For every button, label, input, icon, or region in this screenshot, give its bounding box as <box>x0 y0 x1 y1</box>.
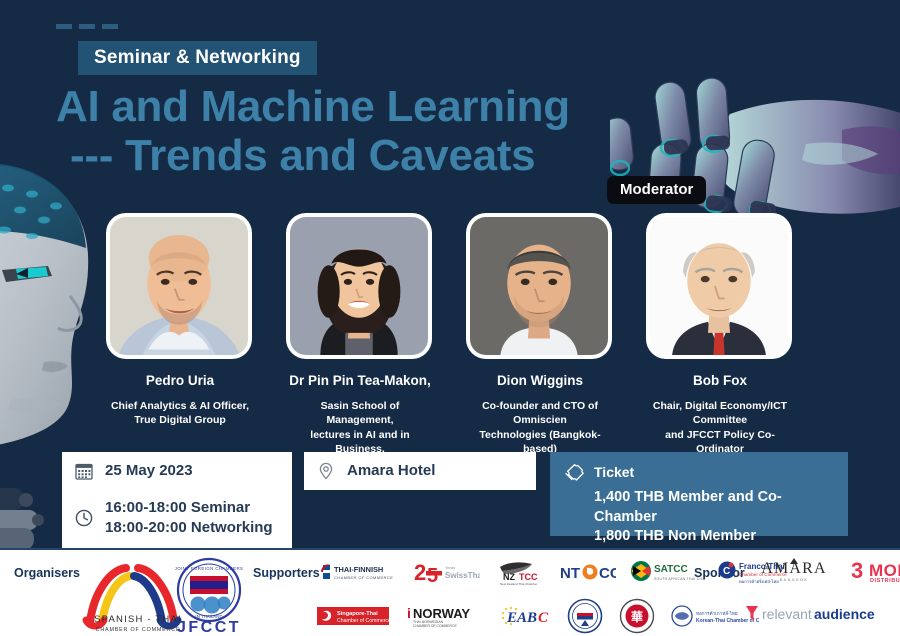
logo-inorway-chamber: i NORWAY THAI-NORWEGIAN CHAMBER OF COMME… <box>407 604 481 628</box>
speaker-photo-frame <box>286 213 432 359</box>
svg-text:CHAMBER OF COMMERCE: CHAMBER OF COMMERCE <box>334 575 393 580</box>
supporters-row-2: Singapore-Thai Chamber of Commerce i NOR… <box>315 598 759 634</box>
event-time-text: 16:00-18:00 Seminar 18:00-20:00 Networki… <box>105 498 273 538</box>
svg-text:NT: NT <box>560 565 580 582</box>
title-line-2: --- Trends and Caveats <box>56 131 696 180</box>
svg-text:NORWAY: NORWAY <box>413 606 470 621</box>
ticket-label: Ticket <box>594 464 634 480</box>
svg-text:3: 3 <box>851 558 863 583</box>
svg-text:EAB: EAB <box>506 610 537 626</box>
supporters-row-1: THAI-FINNISH CHAMBER OF COMMERCE 2 5 Yea… <box>318 558 792 586</box>
svg-text:relevant: relevant <box>762 606 812 622</box>
map-pin-icon <box>316 461 336 481</box>
event-venue-field: Amara Hotel <box>304 452 536 490</box>
event-poster: Seminar & Networking AI and Machine Lear… <box>0 0 900 636</box>
title-line-1: AI and Machine Learning <box>56 82 570 131</box>
organisers-label: Organisers <box>14 566 80 580</box>
svg-text:CC: CC <box>599 565 616 582</box>
ticket-info-box: Ticket 1,400 THB Member and Co-Chamber 1… <box>550 452 848 536</box>
logo-monos-distribution: 3 MONOS DISTRIBUTION <box>849 556 900 584</box>
svg-text:Years: Years <box>445 565 455 570</box>
moderator-badge: Moderator <box>607 176 706 204</box>
svg-text:SOUTH AFRICAN THAI CHAMBER: SOUTH AFRICAN THAI CHAMBER <box>654 577 704 581</box>
logo-ntcc: NT CC <box>560 560 616 584</box>
logo-nztcc: NZ TCC New Zealand Thai Chamber <box>494 558 546 586</box>
svg-text:THAI-FINNISH: THAI-FINNISH <box>334 565 383 574</box>
ticket-header: Ticket <box>564 462 834 482</box>
speaker-photo-frame <box>466 213 612 359</box>
speaker-photo <box>290 217 428 355</box>
svg-text:SATCC: SATCC <box>654 564 688 575</box>
svg-text:C: C <box>723 566 730 577</box>
event-date-field: 25 May 2023 <box>62 452 292 491</box>
clock-icon <box>74 508 94 528</box>
speaker-card: Bob Fox Chair, Digital Economy/ICT Commi… <box>646 213 794 456</box>
ticket-icon <box>564 462 584 482</box>
speaker-card: Pedro Uria Chief Analytics & AI Officer,… <box>106 213 254 456</box>
svg-text:TCC: TCC <box>519 572 538 582</box>
speaker-photo-frame <box>106 213 252 359</box>
logo-singapore-thai-chamber: Singapore-Thai Chamber of Commerce <box>315 604 391 628</box>
event-venue-text: Amara Hotel <box>347 461 435 481</box>
event-date-text: 25 May 2023 <box>105 461 193 481</box>
logo-thai-finnish-chamber: THAI-FINNISH CHAMBER OF COMMERCE <box>318 559 400 585</box>
calendar-icon <box>74 461 94 481</box>
speaker-role: Co-founder and CTO of Omniscien Technolo… <box>466 399 614 456</box>
svg-text:Chamber of Commerce: Chamber of Commerce <box>337 618 391 624</box>
speaker-card: Dr Pin Pin Tea-Makon, Sasin School of Ma… <box>286 213 434 456</box>
supporters-label: Supporters <box>253 566 320 580</box>
svg-text:หอการค้าเกาหลี-ไทย: หอการค้าเกาหลี-ไทย <box>696 610 738 616</box>
svg-text:SwissThai: SwissThai <box>445 571 480 580</box>
svg-text:JOINT FOREIGN CHAMBERS: JOINT FOREIGN CHAMBERS <box>175 566 244 571</box>
speaker-photo <box>650 217 788 355</box>
speaker-name: Pedro Uria <box>106 373 254 389</box>
svg-text:C: C <box>538 610 549 626</box>
page-title: AI and Machine Learning --- Trends and C… <box>56 82 696 181</box>
svg-text:New Zealand Thai Chamber: New Zealand Thai Chamber <box>500 582 537 586</box>
svg-text:華: 華 <box>631 609 643 624</box>
event-time-field: 16:00-18:00 Seminar 18:00-20:00 Networki… <box>62 490 292 548</box>
speaker-photo-frame <box>646 213 792 359</box>
logo-satcc: SATCC SOUTH AFRICAN THAI CHAMBER <box>630 559 704 585</box>
svg-text:NZ: NZ <box>503 572 515 582</box>
decorative-dashes <box>56 24 118 29</box>
speaker-photo <box>110 217 248 355</box>
logo-chamber-seal <box>567 598 603 634</box>
speaker-card: Dion Wiggins Co-founder and CTO of Omnis… <box>466 213 614 456</box>
svg-text:DISTRIBUTION: DISTRIBUTION <box>870 578 900 584</box>
svg-text:audience: audience <box>814 606 875 622</box>
svg-text:i: i <box>407 605 411 621</box>
sponsors-row-2: relevant audience <box>742 602 878 624</box>
speakers-row: Pedro Uria Chief Analytics & AI Officer,… <box>0 213 900 456</box>
logo-jfcct: JOINT FOREIGN CHAMBERS IN THAILAND JFCCT <box>166 554 252 634</box>
speaker-role: Chair, Digital Economy/ICT Committee and… <box>646 399 794 456</box>
speaker-role: Sasin School of Management, lectures in … <box>286 399 434 456</box>
svg-text:JFCCT: JFCCT <box>177 619 241 634</box>
speaker-role: Chief Analytics & AI Officer, True Digit… <box>106 399 254 427</box>
speaker-name: Dion Wiggins <box>466 373 614 389</box>
speaker-name: Bob Fox <box>646 373 794 389</box>
svg-text:2: 2 <box>414 560 426 585</box>
logo-relevant-audience: relevant audience <box>742 602 878 624</box>
speaker-photo <box>470 217 608 355</box>
speaker-name: Dr Pin Pin Tea-Makon, <box>286 373 434 389</box>
logo-swissthai-25: 2 5 Years SwissThai <box>414 558 480 586</box>
sponsors-row-1: AMARA BANGKOK 3 MONOS DISTRIBUTION <box>755 556 900 584</box>
svg-text:CHAMBER OF COMMERCE: CHAMBER OF COMMERCE <box>413 624 457 628</box>
logo-amara-bangkok: AMARA BANGKOK <box>755 556 833 584</box>
ticket-prices: 1,400 THB Member and Co-Chamber 1,800 TH… <box>564 488 834 547</box>
logo-thai-chinese-chamber: 華 <box>619 598 655 634</box>
svg-text:BANGKOK: BANGKOK <box>780 578 809 582</box>
logo-eabc: EAB C <box>497 605 551 627</box>
svg-text:Singapore-Thai: Singapore-Thai <box>337 611 378 617</box>
kicker-badge: Seminar & Networking <box>78 41 317 75</box>
